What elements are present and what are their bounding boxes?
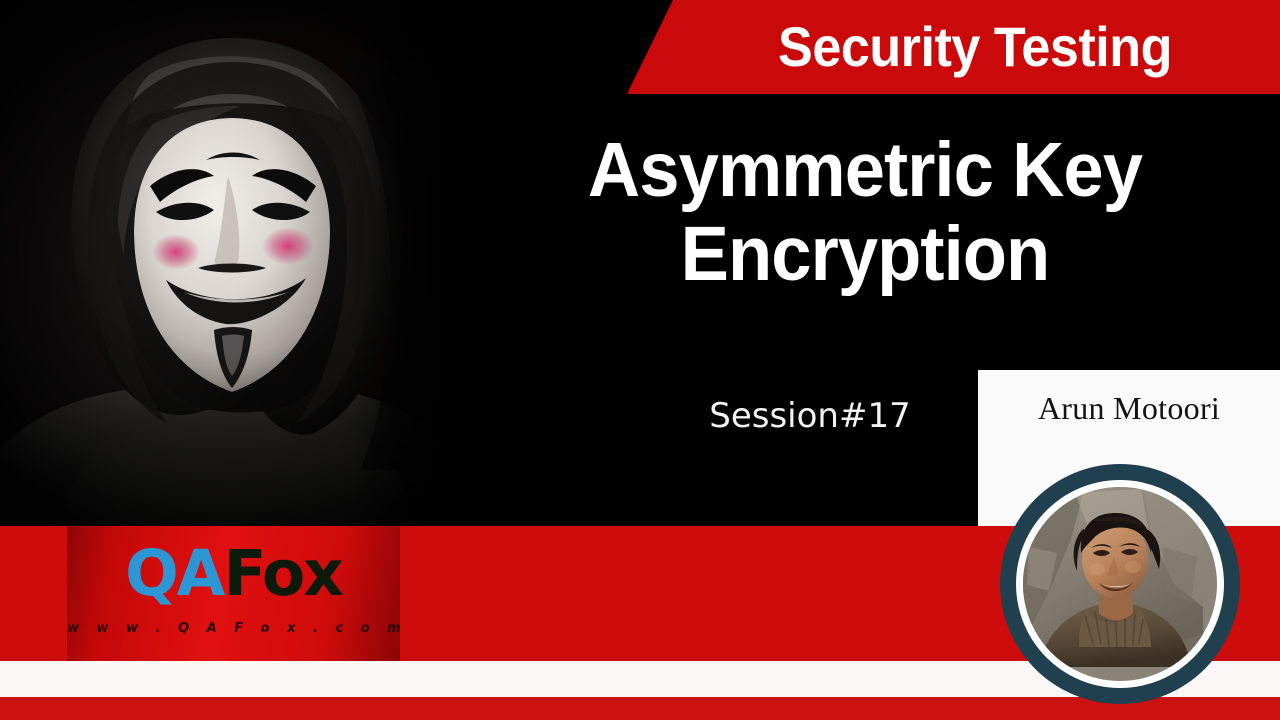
avatar-white-ring <box>1016 480 1224 688</box>
session-label: Session#17 <box>640 396 980 436</box>
presentation-slide: Security Testing Asymmetric Key Encrypti… <box>0 0 1280 720</box>
avatar <box>1000 464 1240 704</box>
page-title-line-2: Encryption <box>494 212 1237 296</box>
presenter-portrait-illustration <box>1023 487 1203 667</box>
qafox-wordmark: QAFox <box>67 542 400 606</box>
qafox-website-url: w w w . Q A F o x . c o m <box>67 621 400 636</box>
qafox-wordmark-qa: QA <box>125 537 223 610</box>
qafox-logo[interactable]: QAFox w w w . Q A F o x . c o m <box>67 526 400 661</box>
page-title-line-1: Asymmetric Key <box>494 128 1237 212</box>
anonymous-hacker-mask-photo <box>0 0 470 527</box>
category-banner-label: Security Testing <box>710 6 1240 88</box>
page-title: Asymmetric Key Encryption <box>470 128 1260 296</box>
footer-red-band-lower <box>0 697 1280 720</box>
hooded-figure-illustration <box>0 0 470 527</box>
presenter-headshot-photo <box>1023 487 1217 681</box>
presenter-name: Arun Motoori <box>978 390 1280 427</box>
qafox-wordmark-fox: Fox <box>223 537 341 610</box>
